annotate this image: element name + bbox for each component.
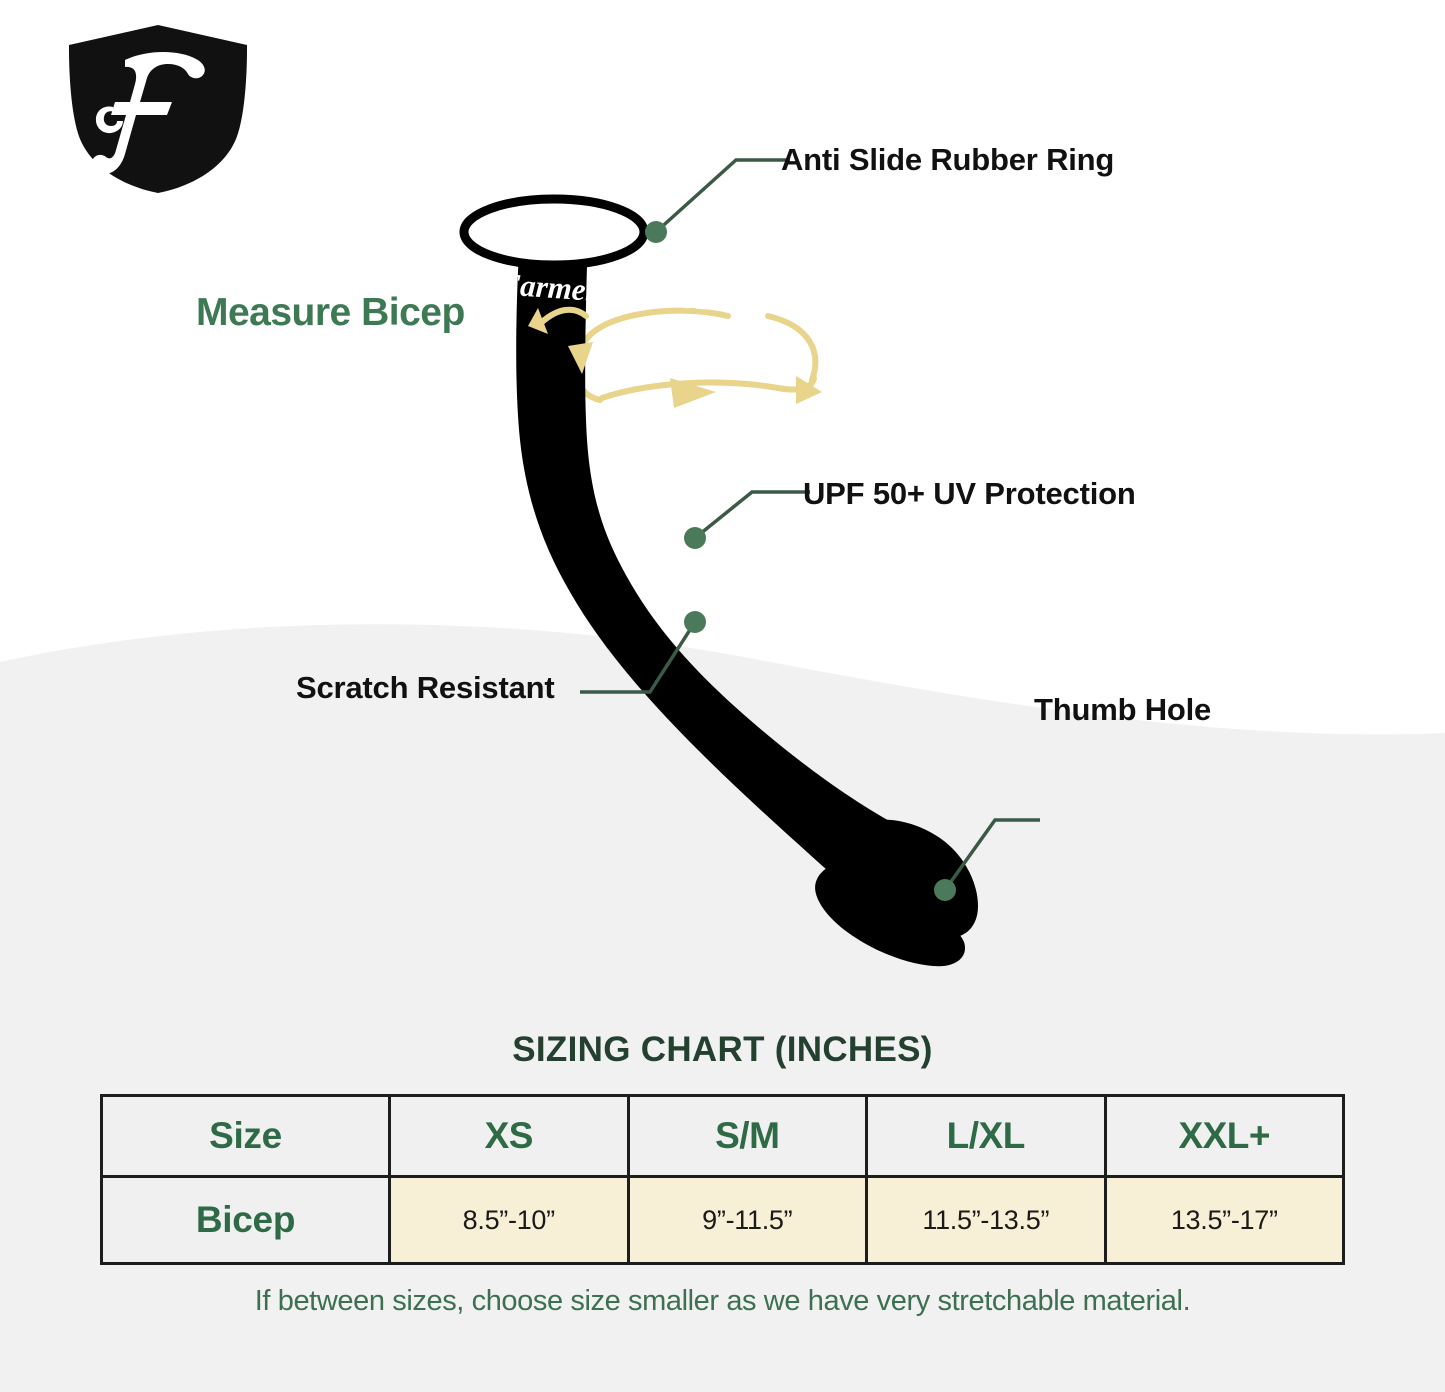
dot-scratch <box>684 611 706 633</box>
measure-arrowhead-right <box>796 376 822 404</box>
table-row-bicep: Bicep 8.5”-10” 9”-11.5” 11.5”-13.5” 13.5… <box>102 1177 1344 1264</box>
dot-upf <box>684 527 706 549</box>
callout-label-thumb-hole: Thumb Hole <box>1034 692 1211 728</box>
arm-sleeve-illustration: Farmers DEFENSE <box>150 120 1300 980</box>
sizing-chart-footnote: If between sizes, choose size smaller as… <box>0 1285 1445 1318</box>
value-cell-bicep-xxl: 13.5”-17” <box>1105 1177 1344 1264</box>
sleeve-block-text: DEFENSE <box>604 286 712 314</box>
header-cell-size: Size <box>102 1096 390 1177</box>
leader-anti-slide <box>656 160 790 232</box>
header-cell-lxl: L/XL <box>867 1096 1106 1177</box>
measure-bicep-label: Measure Bicep <box>196 291 465 335</box>
header-cell-sm: S/M <box>628 1096 867 1177</box>
value-cell-bicep-xs: 8.5”-10” <box>390 1177 629 1264</box>
sizing-infographic-page: Farmers DEFENSE A <box>0 0 1445 1392</box>
sleeve-script-text: Farmers <box>498 266 611 309</box>
value-cell-bicep-lxl: 11.5”-13.5” <box>867 1177 1106 1264</box>
cuff-opening <box>464 199 644 265</box>
callout-label-upf-uv-protection: UPF 50+ UV Protection <box>803 476 1136 512</box>
header-cell-xs: XS <box>390 1096 629 1177</box>
dot-thumb <box>934 879 956 901</box>
header-cell-xxl: XXL+ <box>1105 1096 1344 1177</box>
callout-label-scratch-resistant: Scratch Resistant <box>296 670 554 706</box>
sizing-chart-title: SIZING CHART (INCHES) <box>0 1030 1445 1070</box>
dot-anti-slide <box>645 221 667 243</box>
callout-label-anti-slide-rubber-ring: Anti Slide Rubber Ring <box>781 142 1114 178</box>
sizing-chart-section: SIZING CHART (INCHES) Size XS S/M L/XL X… <box>0 1030 1445 1318</box>
sizing-chart-table: Size XS S/M L/XL XXL+ Bicep 8.5”-10” 9”-… <box>100 1094 1345 1265</box>
row-label-bicep: Bicep <box>102 1177 390 1264</box>
shield-logo <box>52 14 264 204</box>
leader-upf <box>695 492 810 538</box>
value-cell-bicep-sm: 9”-11.5” <box>628 1177 867 1264</box>
table-row-header: Size XS S/M L/XL XXL+ <box>102 1096 1344 1177</box>
